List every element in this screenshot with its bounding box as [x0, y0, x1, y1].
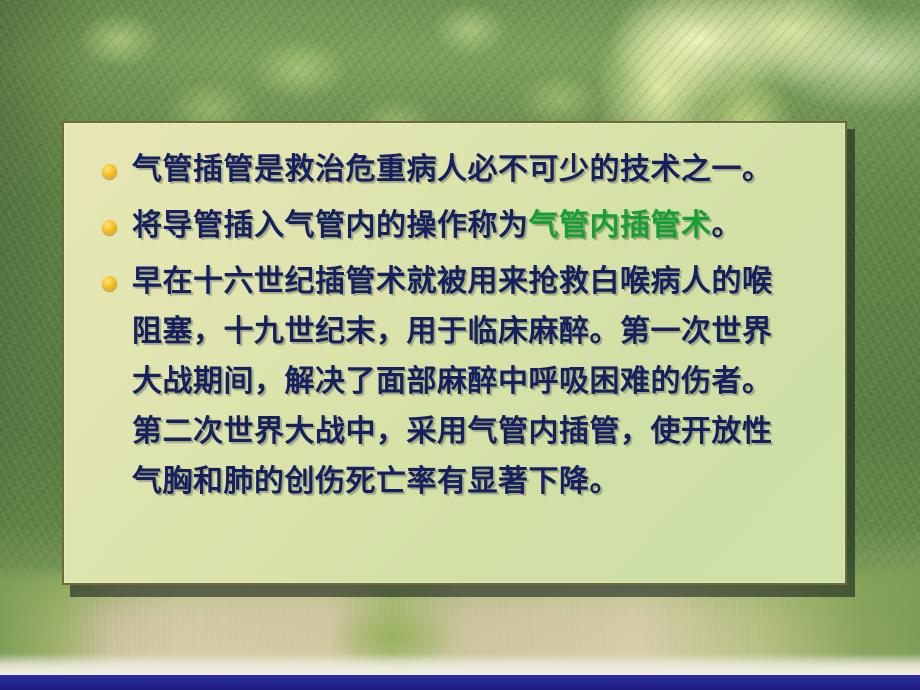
presentation-slide: 气管插管是救治危重病人必不可少的技术之一。 将导管插入气管内的操作称为气管内插管… — [0, 0, 920, 690]
content-panel: 气管插管是救治危重病人必不可少的技术之一。 将导管插入气管内的操作称为气管内插管… — [62, 121, 847, 585]
bullet-list: 气管插管是救治危重病人必不可少的技术之一。 将导管插入气管内的操作称为气管内插管… — [88, 145, 819, 507]
bullet-text: 将导管插入气管内的操作称为气管内插管术。 — [132, 201, 819, 251]
disc-bullet-icon — [102, 164, 117, 179]
disc-bullet-icon — [102, 276, 117, 291]
bullet-text: 早在十六世纪插管术就被用来抢救白喉病人的喉 阻塞，十九世纪末，用于临床麻醉。第一… — [132, 257, 819, 507]
list-item: 将导管插入气管内的操作称为气管内插管术。 — [88, 201, 819, 251]
highlighted-term: 气管内插管术 — [529, 208, 712, 243]
list-item: 气管插管是救治危重病人必不可少的技术之一。 — [88, 145, 819, 195]
bullet-text: 气管插管是救治危重病人必不可少的技术之一。 — [132, 145, 819, 195]
bullet-text-part: 将导管插入气管内的操作称为 — [132, 208, 529, 243]
slide-bottom-band — [0, 675, 920, 690]
disc-bullet-icon — [102, 220, 117, 235]
list-item: 早在十六世纪插管术就被用来抢救白喉病人的喉 阻塞，十九世纪末，用于临床麻醉。第一… — [88, 257, 819, 507]
bullet-text-part: 。 — [712, 208, 743, 243]
photo-bottom-fade — [0, 653, 920, 675]
